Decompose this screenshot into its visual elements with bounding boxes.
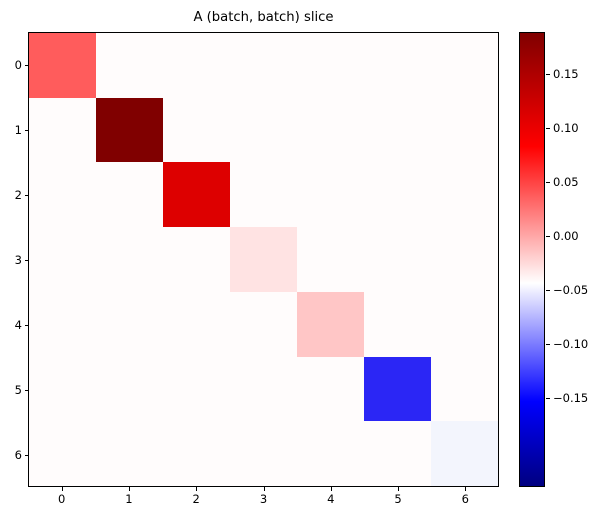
heatmap-cell bbox=[29, 98, 96, 163]
heatmap-cell bbox=[431, 227, 498, 292]
y-tick-label: 0 bbox=[0, 58, 22, 72]
colorbar-tick-mark bbox=[546, 290, 550, 291]
heatmap-cell bbox=[29, 162, 96, 227]
heatmap-cell bbox=[431, 162, 498, 227]
heatmap-cell bbox=[364, 357, 431, 422]
heatmap-cell bbox=[364, 162, 431, 227]
x-tick-mark bbox=[398, 487, 399, 491]
heatmap-cell bbox=[163, 357, 230, 422]
heatmap-cell bbox=[29, 292, 96, 357]
heatmap-cell bbox=[96, 227, 163, 292]
heatmap-cell bbox=[29, 227, 96, 292]
colorbar-tick-label: 0.10 bbox=[553, 121, 579, 135]
x-tick-mark bbox=[331, 487, 332, 491]
heatmap-cell bbox=[297, 33, 364, 98]
heatmap-cell bbox=[364, 421, 431, 486]
x-tick-mark bbox=[62, 487, 63, 491]
x-tick-label: 6 bbox=[445, 492, 485, 506]
colorbar-tick-label: −0.10 bbox=[553, 337, 588, 351]
colorbar-tick-label: 0.05 bbox=[553, 175, 579, 189]
heatmap-grid bbox=[29, 33, 498, 486]
heatmap-cell bbox=[163, 292, 230, 357]
colorbar-tick-label: −0.15 bbox=[553, 391, 588, 405]
heatmap-cell bbox=[96, 98, 163, 163]
x-tick-label: 1 bbox=[109, 492, 149, 506]
y-tick-mark bbox=[25, 390, 29, 391]
y-tick-label: 2 bbox=[0, 188, 22, 202]
x-tick-label: 4 bbox=[311, 492, 351, 506]
heatmap-cell bbox=[230, 421, 297, 486]
heatmap-cell bbox=[29, 421, 96, 486]
page-title: A (batch, batch) slice bbox=[28, 9, 499, 27]
heatmap-cell bbox=[297, 98, 364, 163]
heatmap-cell bbox=[297, 292, 364, 357]
heatmap-cell bbox=[29, 33, 96, 98]
heatmap-cell bbox=[29, 357, 96, 422]
heatmap-cell bbox=[297, 421, 364, 486]
y-tick-mark bbox=[25, 455, 29, 456]
x-tick-label: 3 bbox=[244, 492, 284, 506]
colorbar[interactable] bbox=[519, 32, 545, 487]
heatmap-cell bbox=[230, 162, 297, 227]
heatmap-cell bbox=[431, 33, 498, 98]
matplotlib-figure: A (batch, batch) slice 01234560123456 0.… bbox=[0, 0, 606, 528]
heatmap-cell bbox=[96, 421, 163, 486]
heatmap-cell bbox=[96, 33, 163, 98]
colorbar-tick-label: 0.15 bbox=[553, 67, 579, 81]
y-tick-mark bbox=[25, 195, 29, 196]
x-tick-label: 5 bbox=[378, 492, 418, 506]
heatmap-cell bbox=[364, 33, 431, 98]
colorbar-tick-mark bbox=[546, 182, 550, 183]
heatmap-cell bbox=[163, 421, 230, 486]
x-tick-label: 2 bbox=[176, 492, 216, 506]
colorbar-tick-mark bbox=[546, 74, 550, 75]
colorbar-tick-mark bbox=[546, 236, 550, 237]
heatmap-cell bbox=[96, 162, 163, 227]
heatmap-cell bbox=[297, 162, 364, 227]
heatmap-cell bbox=[431, 292, 498, 357]
x-tick-mark bbox=[129, 487, 130, 491]
heatmap-cell bbox=[431, 357, 498, 422]
y-tick-label: 4 bbox=[0, 318, 22, 332]
y-tick-label: 5 bbox=[0, 383, 22, 397]
heatmap-cell bbox=[96, 292, 163, 357]
heatmap-cell bbox=[163, 162, 230, 227]
heatmap-cell bbox=[96, 357, 163, 422]
heatmap-cell bbox=[297, 227, 364, 292]
colorbar-tick-mark bbox=[546, 128, 550, 129]
colorbar-tick-label: −0.05 bbox=[553, 283, 588, 297]
heatmap-cell bbox=[364, 292, 431, 357]
heatmap-cell bbox=[230, 98, 297, 163]
heatmap-cell bbox=[230, 357, 297, 422]
colorbar-tick-label: 0.00 bbox=[553, 229, 579, 243]
heatmap-cell bbox=[230, 227, 297, 292]
heatmap-cell bbox=[163, 227, 230, 292]
colorbar-tick-mark bbox=[546, 398, 550, 399]
y-tick-label: 6 bbox=[0, 448, 22, 462]
x-tick-mark bbox=[264, 487, 265, 491]
y-tick-mark bbox=[25, 65, 29, 66]
y-tick-mark bbox=[25, 325, 29, 326]
y-tick-mark bbox=[25, 260, 29, 261]
x-tick-mark bbox=[465, 487, 466, 491]
heatmap-cell bbox=[364, 98, 431, 163]
heatmap-cell bbox=[230, 33, 297, 98]
colorbar-gradient bbox=[519, 32, 545, 487]
heatmap-cell bbox=[364, 227, 431, 292]
y-tick-label: 1 bbox=[0, 123, 22, 137]
colorbar-tick-mark bbox=[546, 344, 550, 345]
heatmap-cell bbox=[163, 33, 230, 98]
heatmap-cell bbox=[431, 421, 498, 486]
y-tick-label: 3 bbox=[0, 253, 22, 267]
y-tick-mark bbox=[25, 130, 29, 131]
heatmap-plot-area[interactable] bbox=[28, 32, 499, 487]
heatmap-cell bbox=[431, 98, 498, 163]
x-tick-mark bbox=[196, 487, 197, 491]
heatmap-cell bbox=[163, 98, 230, 163]
heatmap-cell bbox=[297, 357, 364, 422]
x-tick-label: 0 bbox=[42, 492, 82, 506]
heatmap-cell bbox=[230, 292, 297, 357]
